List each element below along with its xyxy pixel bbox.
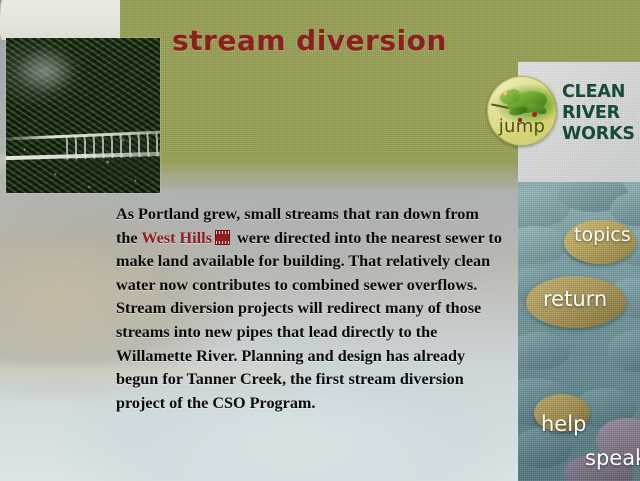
film-strip-icon[interactable] — [215, 230, 230, 245]
nav-help-button[interactable]: help — [541, 412, 586, 436]
nav-return-button[interactable]: return — [543, 287, 607, 311]
jump-button-label: jump — [487, 116, 557, 137]
frog-eye — [503, 91, 509, 97]
brand-line-river: RIVER — [562, 103, 640, 124]
photo-speckle — [6, 38, 160, 193]
brand-wordmark: CLEAN RIVER WORKS — [562, 82, 640, 145]
paragraph-part-two: were directed into the nearest sewer to … — [116, 229, 502, 412]
west-hills-link[interactable]: West Hills — [141, 229, 212, 247]
application-window: stream diversion As Portland grew, small… — [0, 0, 640, 481]
forest-footbridge-photo — [6, 38, 160, 193]
rock — [608, 330, 640, 372]
winter-trees-photo — [0, 0, 120, 40]
jump-button[interactable]: jump — [487, 76, 557, 146]
rock — [518, 226, 568, 264]
body-paragraph: As Portland grew, small streams that ran… — [116, 203, 502, 415]
nav-topics-button[interactable]: topics — [574, 224, 631, 246]
page-title: stream diversion — [172, 24, 447, 57]
brand-line-works: WORKS — [562, 124, 640, 145]
nav-speak-button[interactable]: speak — [585, 446, 640, 470]
rock — [518, 332, 570, 370]
brand-line-clean: CLEAN — [562, 82, 640, 103]
